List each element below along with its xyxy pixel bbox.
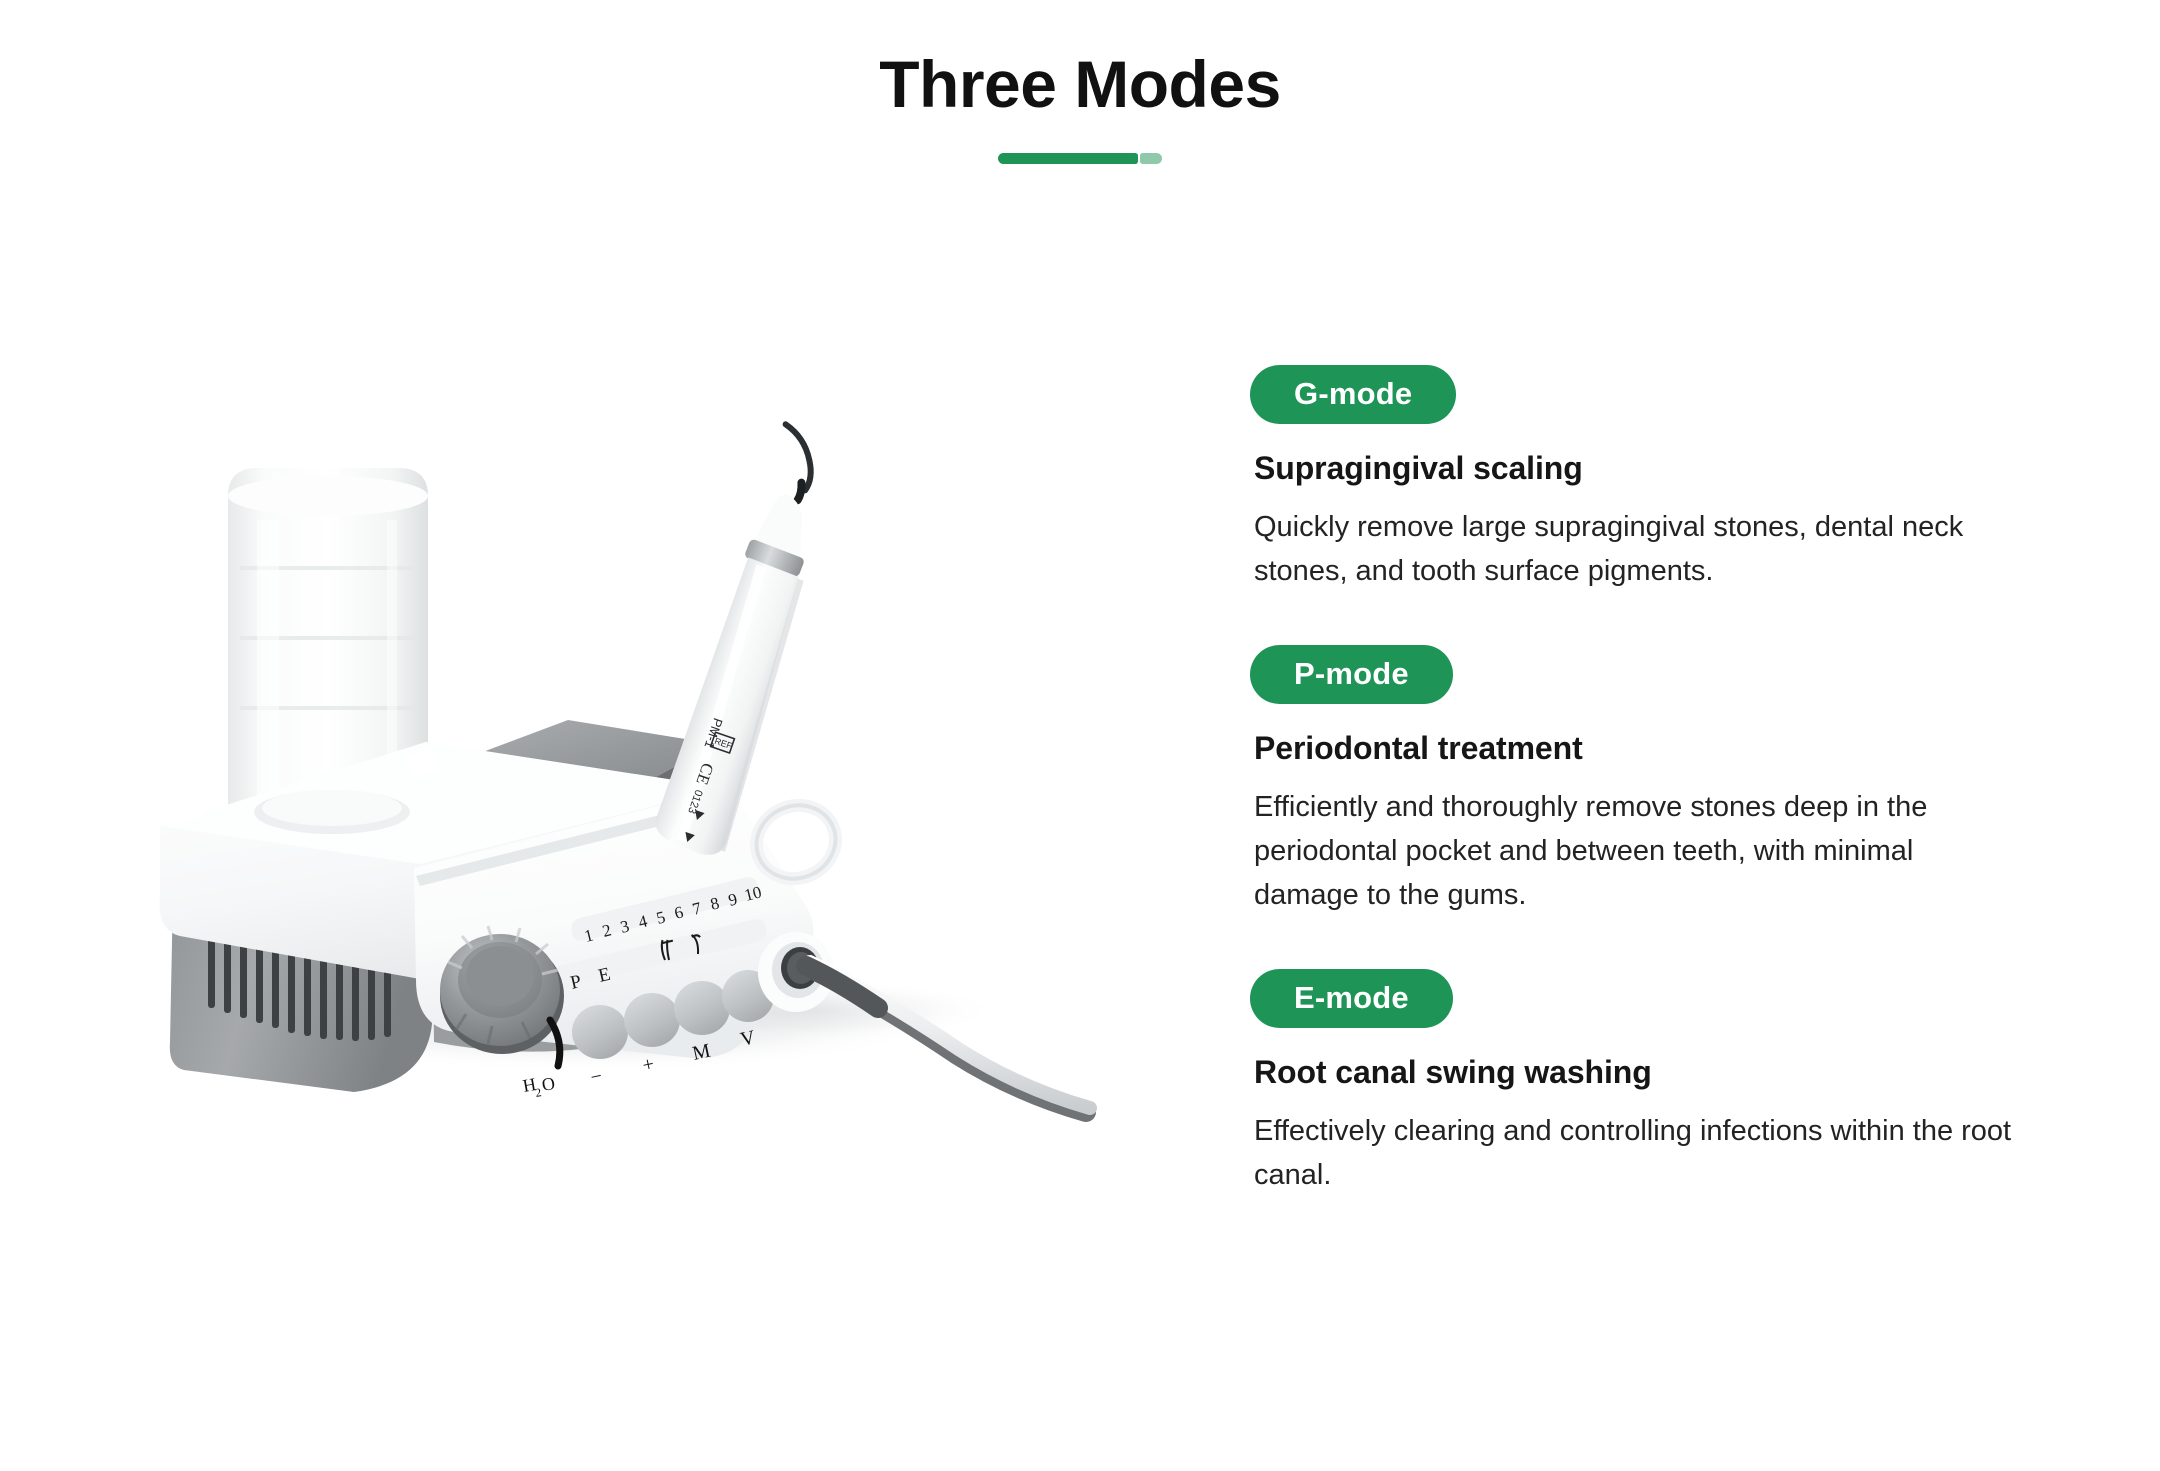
page-title: Three Modes <box>0 48 2160 121</box>
handpiece: PM-1 REF CE 0123 <box>644 424 863 861</box>
product-image-column: 1 2 3 4 5 6 7 8 9 10 <box>0 210 1225 1471</box>
mode-heading-e: Root canal swing washing <box>1254 1054 2160 1091</box>
product-image-ultrasonic-scaler: 1 2 3 4 5 6 7 8 9 10 <box>120 320 1150 1180</box>
divider-tip-segment <box>1140 153 1162 164</box>
svg-text:O: O <box>540 1073 556 1095</box>
mode-badge-p[interactable]: P-mode <box>1250 645 1453 704</box>
button-mode <box>674 981 730 1035</box>
mode-block-g: G-mode Supragingival scaling Quickly rem… <box>1250 365 2160 593</box>
button-plus <box>624 993 680 1047</box>
scaler-tip <box>767 424 824 490</box>
mode-badge-e[interactable]: E-mode <box>1250 969 1453 1028</box>
mode-heading-p: Periodontal treatment <box>1254 730 2160 767</box>
mode-block-e: E-mode Root canal swing washing Effectiv… <box>1250 969 2160 1197</box>
mode-block-p: P-mode Periodontal treatment Efficiently… <box>1250 645 2160 917</box>
modes-column: G-mode Supragingival scaling Quickly rem… <box>1225 210 2160 1471</box>
mode-description-g: Quickly remove large supragingival stone… <box>1254 505 2014 593</box>
divider-main-segment <box>998 153 1138 164</box>
mode-heading-g: Supragingival scaling <box>1254 450 2160 487</box>
title-divider <box>0 153 2160 164</box>
mode-description-p: Efficiently and thoroughly remove stones… <box>1254 785 2014 917</box>
mode-description-e: Effectively clearing and controlling inf… <box>1254 1109 2014 1197</box>
page-header: Three Modes <box>0 0 2160 164</box>
mode-badge-g[interactable]: G-mode <box>1250 365 1456 424</box>
svg-text:2: 2 <box>534 1085 542 1100</box>
content-area: 1 2 3 4 5 6 7 8 9 10 <box>0 210 2160 1471</box>
button-minus <box>572 1005 628 1059</box>
